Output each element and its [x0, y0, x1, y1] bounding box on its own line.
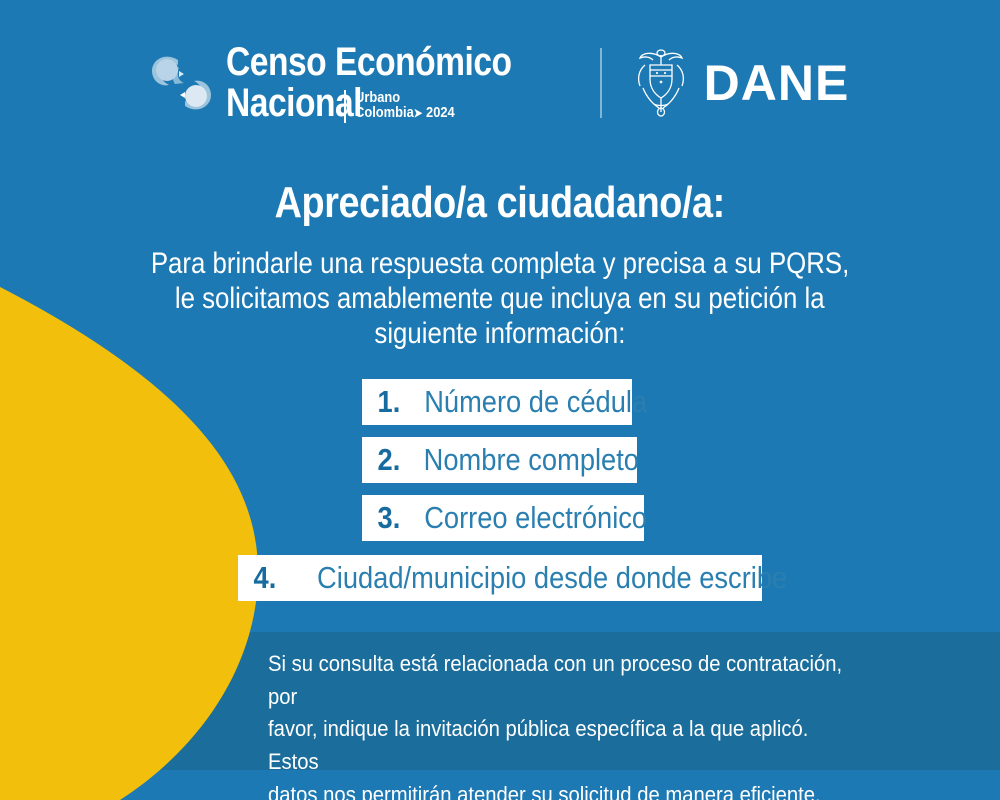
list-item: 1. Número de cédula: [362, 379, 632, 425]
list-item-number: 4.: [254, 560, 277, 596]
list-item-number: 3.: [378, 500, 401, 536]
list-item-number: 1.: [378, 384, 401, 420]
list-item-label: Correo electrónico: [424, 500, 647, 536]
list-item-label: Número de cédula: [424, 384, 647, 420]
poster-canvas: Censo Económico Nacional Urbano Colombia…: [0, 0, 1000, 800]
footer-line-2: favor, indique la invitación pública esp…: [268, 713, 853, 778]
footer-note: Si su consulta está relacionada con un p…: [268, 648, 918, 800]
poster-content: Apreciado/a ciudadano/a: Para brindarle …: [0, 0, 1000, 800]
list-item-number: 2.: [378, 442, 401, 478]
list-item-label: Nombre completo: [424, 442, 639, 478]
list-item: 4. Ciudad/municipio desde donde escribe: [238, 555, 762, 601]
footer-line-3: datos nos permitirán atender su solicitu…: [268, 779, 821, 800]
footer-line-1: Si su consulta está relacionada con un p…: [268, 648, 853, 713]
list-item: 2. Nombre completo: [362, 437, 637, 483]
list-item-label: Ciudad/municipio desde donde escribe: [317, 560, 787, 596]
list-item: 3. Correo electrónico: [362, 495, 644, 541]
